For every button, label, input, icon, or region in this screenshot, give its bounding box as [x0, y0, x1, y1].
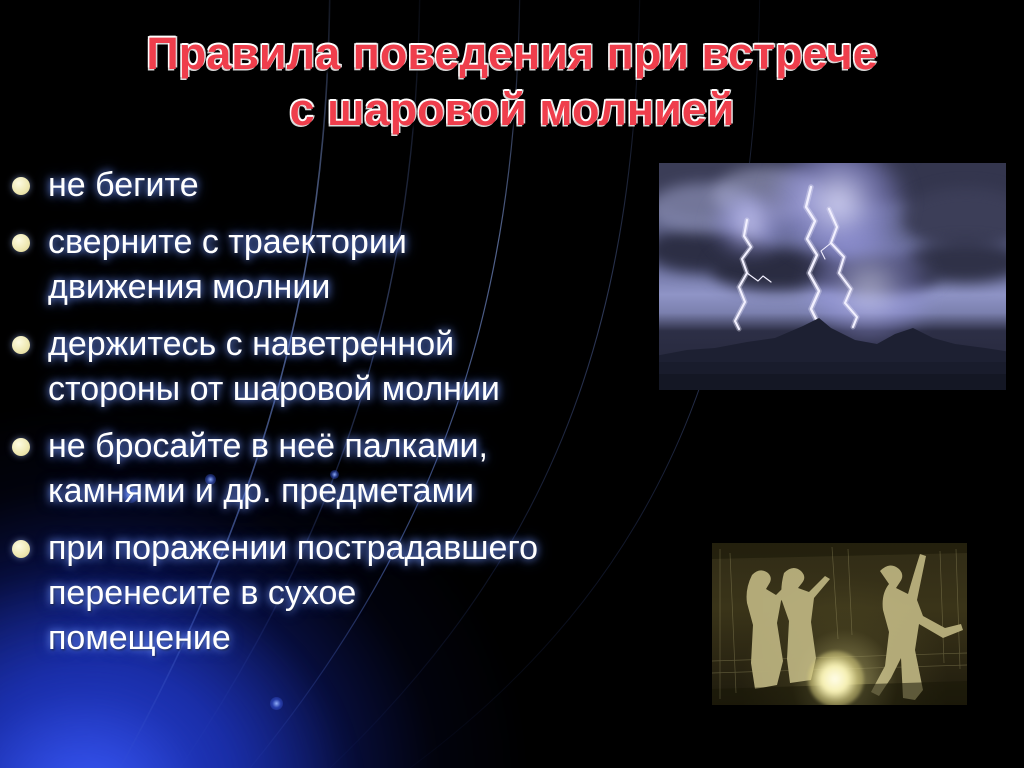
ball-lightning-engraving — [712, 543, 967, 705]
list-item: держитесь с наветренной стороны от шаров… — [12, 322, 712, 412]
lightning-photo — [659, 163, 1006, 390]
list-item: не бросайте в неё палками, камнями и др.… — [12, 424, 712, 514]
list-item-text: держитесь с наветренной стороны от шаров… — [48, 322, 500, 412]
list-item-text: при поражении пострадавшего перенесите в… — [48, 526, 538, 661]
slide-title: Правила поведения при встрече с шаровой … — [0, 26, 1024, 138]
bullet-marker-icon — [12, 177, 30, 195]
bullet-marker-icon — [12, 438, 30, 456]
ground-hill — [659, 304, 1006, 390]
bullet-marker-icon — [12, 336, 30, 354]
list-item-text: сверните с траектории движения молнии — [48, 220, 407, 310]
list-item: при поражении пострадавшего перенесите в… — [12, 526, 712, 661]
slide-canvas: Правила поведения при встрече с шаровой … — [0, 0, 1024, 768]
list-item-text: не бегите — [48, 163, 199, 208]
list-item-text: не бросайте в неё палками, камнями и др.… — [48, 424, 488, 514]
bullet-marker-icon — [12, 234, 30, 252]
list-item: не бегите — [12, 163, 712, 208]
glow-dot — [270, 697, 283, 710]
bullet-marker-icon — [12, 540, 30, 558]
bullet-list: не бегите сверните с траектории движения… — [12, 163, 712, 673]
ball-lightning-glow — [808, 651, 864, 705]
list-item: сверните с траектории движения молнии — [12, 220, 712, 310]
